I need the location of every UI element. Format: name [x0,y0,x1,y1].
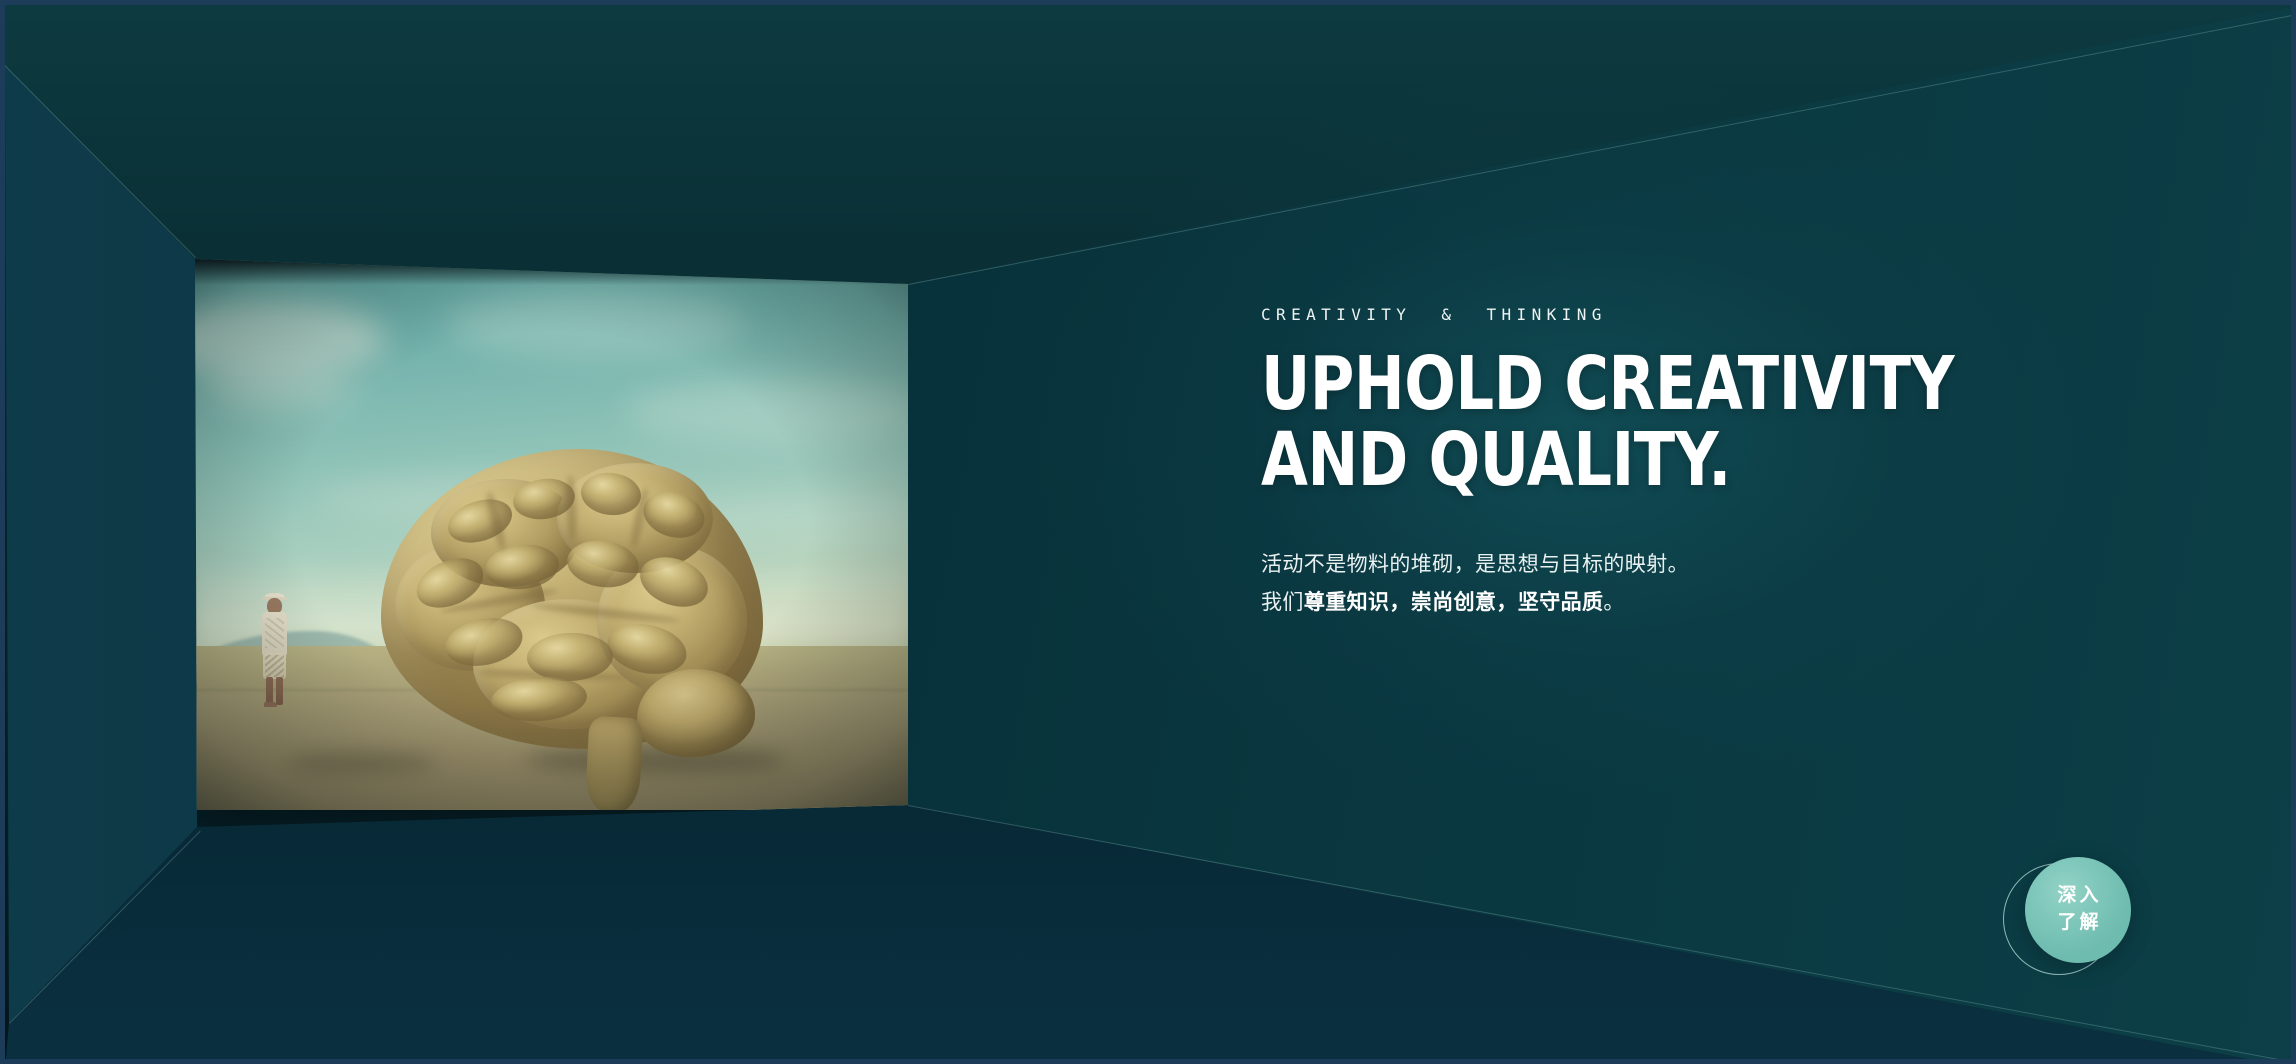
hero-content: CREATIVITY & THINKING UPHOLD CREATIVITY … [1261,305,2141,621]
hero-banner: CREATIVITY & THINKING UPHOLD CREATIVITY … [0,0,2296,1064]
artwork-panel [195,259,908,810]
artwork-image [195,259,908,810]
man-leg [266,677,273,705]
man-shorts [263,653,286,679]
page-title: UPHOLD CREATIVITY AND QUALITY. [1261,346,1983,498]
cloud [445,289,745,359]
brain-cerebellum [637,669,755,757]
hero-description: 活动不是物料的堆砌，是思想与目标的映射。 我们尊重知识，崇尚创意，坚守品质。 [1261,546,2141,621]
man-shirt [262,612,287,656]
eyebrow-label: CREATIVITY & THINKING [1261,305,2141,324]
man-foot [264,702,277,707]
brain-stem [585,716,644,810]
description-line-2: 我们尊重知识，崇尚创意，坚守品质。 [1261,584,2141,621]
learn-more-button[interactable]: 深入 了解 [2003,857,2131,985]
man-leg [276,677,283,705]
description-line-1: 活动不是物料的堆砌，是思想与目标的映射。 [1261,546,2141,583]
cloud [625,379,908,443]
description-line-2-prefix: 我们 [1261,590,1304,614]
brain-sculpture [381,449,763,765]
description-line-2-emphasis: 尊重知识，崇尚创意，坚守品质 [1304,590,1604,614]
cta-label: 深入 了解 [2025,857,2131,963]
cta-label-line-2: 了解 [2054,913,2101,934]
standing-man [257,593,293,707]
cta-label-line-1: 深入 [2054,886,2101,907]
cloud [205,367,355,413]
description-line-2-suffix: 。 [1603,590,1624,614]
